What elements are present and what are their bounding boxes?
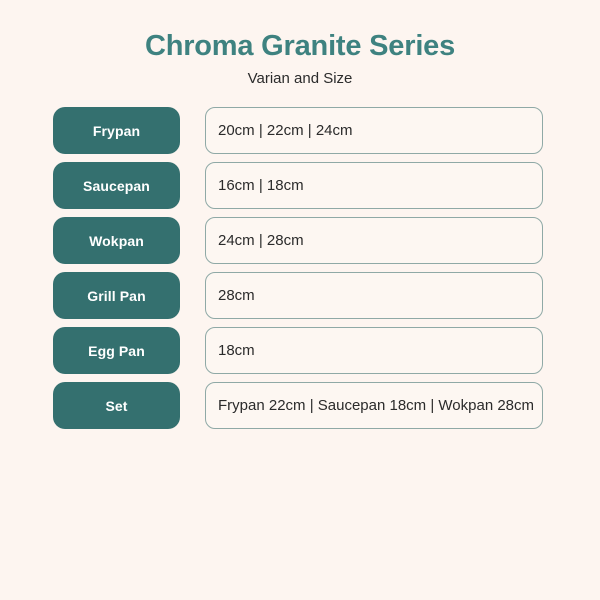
variant-label: Egg Pan bbox=[88, 343, 145, 359]
table-row: Saucepan 16cm | 18cm bbox=[53, 162, 543, 209]
variant-label: Grill Pan bbox=[87, 288, 145, 304]
table-row: Wokpan 24cm | 28cm bbox=[53, 217, 543, 264]
variant-size-table: Frypan 20cm | 22cm | 24cm Saucepan 16cm … bbox=[0, 107, 600, 429]
row-spacer bbox=[180, 107, 205, 154]
variant-label: Set bbox=[105, 398, 127, 414]
table-row: Grill Pan 28cm bbox=[53, 272, 543, 319]
size-value: 24cm | 28cm bbox=[218, 231, 304, 251]
variant-label: Wokpan bbox=[89, 233, 144, 249]
page-subtitle: Varian and Size bbox=[0, 69, 600, 89]
row-spacer bbox=[180, 272, 205, 319]
size-value-box-frypan: 20cm | 22cm | 24cm bbox=[205, 107, 543, 154]
variant-pill-saucepan: Saucepan bbox=[53, 162, 180, 209]
product-spec-card: Chroma Granite Series Varian and Size Fr… bbox=[0, 0, 600, 600]
table-row: Set Frypan 22cm | Saucepan 18cm | Wokpan… bbox=[53, 382, 543, 429]
size-value: 18cm bbox=[218, 341, 255, 361]
table-row: Egg Pan 18cm bbox=[53, 327, 543, 374]
table-row: Frypan 20cm | 22cm | 24cm bbox=[53, 107, 543, 154]
variant-pill-set: Set bbox=[53, 382, 180, 429]
size-value-box-set: Frypan 22cm | Saucepan 18cm | Wokpan 28c… bbox=[205, 382, 543, 429]
size-value-box-egg-pan: 18cm bbox=[205, 327, 543, 374]
size-value-box-grill-pan: 28cm bbox=[205, 272, 543, 319]
page-title: Chroma Granite Series bbox=[0, 28, 600, 64]
variant-pill-wokpan: Wokpan bbox=[53, 217, 180, 264]
variant-pill-egg-pan: Egg Pan bbox=[53, 327, 180, 374]
variant-pill-grill-pan: Grill Pan bbox=[53, 272, 180, 319]
variant-pill-frypan: Frypan bbox=[53, 107, 180, 154]
size-value: 16cm | 18cm bbox=[218, 176, 304, 196]
variant-label: Saucepan bbox=[83, 178, 150, 194]
size-value: Frypan 22cm | Saucepan 18cm | Wokpan 28c… bbox=[218, 396, 534, 416]
row-spacer bbox=[180, 217, 205, 264]
size-value: 28cm bbox=[218, 286, 255, 306]
row-spacer bbox=[180, 382, 205, 429]
variant-label: Frypan bbox=[93, 123, 140, 139]
size-value-box-wokpan: 24cm | 28cm bbox=[205, 217, 543, 264]
row-spacer bbox=[180, 162, 205, 209]
size-value: 20cm | 22cm | 24cm bbox=[218, 121, 353, 141]
row-spacer bbox=[180, 327, 205, 374]
card-header: Chroma Granite Series Varian and Size bbox=[0, 0, 600, 89]
size-value-box-saucepan: 16cm | 18cm bbox=[205, 162, 543, 209]
